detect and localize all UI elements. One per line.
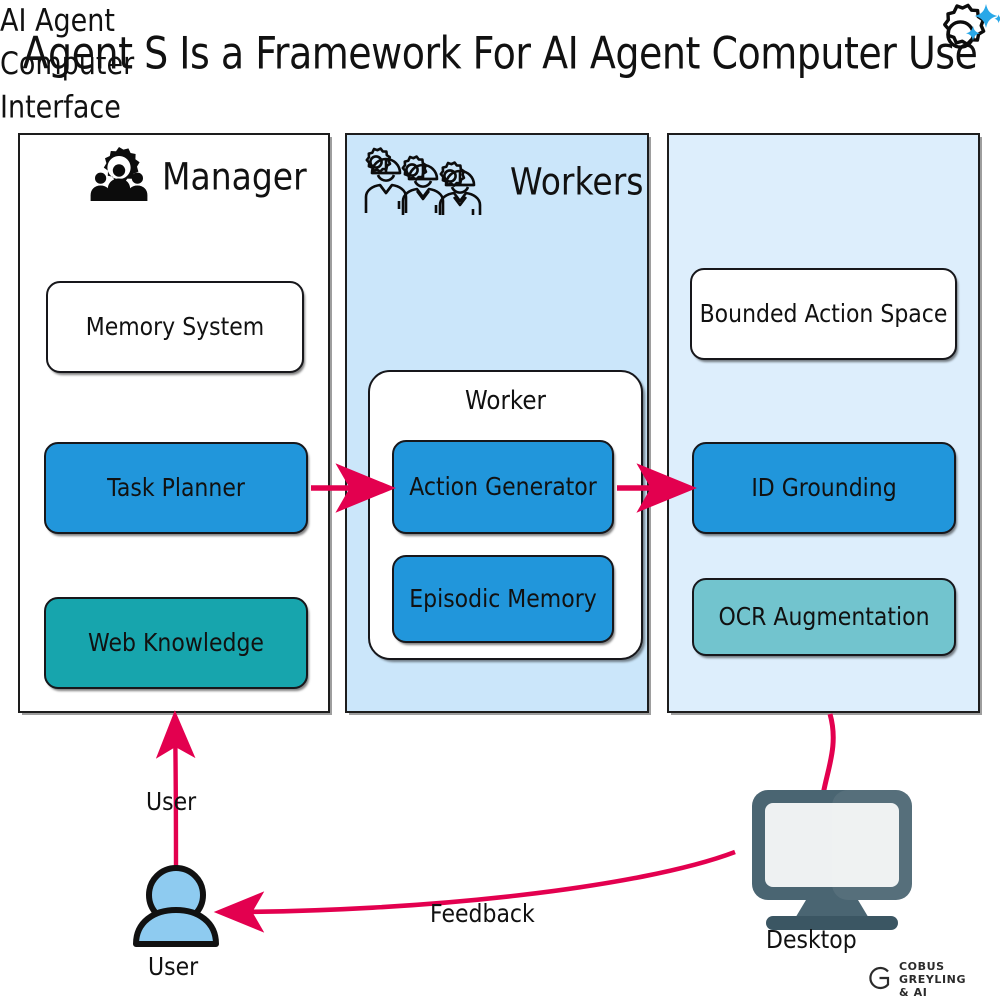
box-id-grounding-label: ID Grounding — [751, 474, 896, 502]
label-user-actor: User — [148, 953, 198, 981]
manager-title: Manager — [162, 154, 307, 198]
user-avatar-icon — [136, 868, 216, 944]
watermark: COBUS GREYLING& AI — [866, 960, 1000, 999]
box-bounded-action-space[interactable]: Bounded Action Space — [690, 268, 957, 360]
box-episodic-memory-label: Episodic Memory — [409, 585, 597, 613]
box-ocr-augmentation-label: OCR Augmentation — [718, 603, 929, 631]
watermark-line-2: & AI — [899, 986, 927, 999]
box-bounded-action-space-label: Bounded Action Space — [700, 300, 948, 328]
aci-title-line-2: Computer Interface — [0, 47, 134, 126]
worker-card-title: Worker — [370, 386, 641, 415]
aci-title: AI AgentComputer Interface — [0, 0, 215, 130]
box-action-generator[interactable]: Action Generator — [392, 440, 614, 534]
box-web-knowledge[interactable]: Web Knowledge — [44, 597, 308, 689]
watermark-line-1: COBUS GREYLING — [899, 960, 966, 986]
box-ocr-augmentation[interactable]: OCR Augmentation — [692, 578, 956, 656]
people-gear-icon — [88, 145, 150, 207]
g-monogram-icon — [866, 965, 892, 995]
arrow-aci-to-desktop — [821, 714, 834, 840]
box-id-grounding[interactable]: ID Grounding — [692, 442, 956, 534]
label-desktop: Desktop — [766, 926, 857, 954]
watermark-text: COBUS GREYLING& AI — [899, 960, 1000, 999]
aci-title-line-1: AI Agent — [0, 3, 115, 38]
workers-hardhat-gears-icon — [352, 143, 500, 219]
box-memory-system-label: Memory System — [86, 313, 265, 341]
manager-header: Manager — [88, 145, 307, 207]
box-memory-system[interactable]: Memory System — [46, 281, 304, 373]
label-feedback: Feedback — [430, 900, 535, 928]
workers-header: Workers — [352, 143, 643, 219]
box-action-generator-label: Action Generator — [409, 473, 597, 501]
box-episodic-memory[interactable]: Episodic Memory — [392, 555, 614, 643]
box-task-planner-label: Task Planner — [107, 474, 245, 502]
label-user-edge: User — [146, 788, 196, 816]
box-task-planner[interactable]: Task Planner — [44, 442, 308, 534]
desktop-monitor-icon — [752, 790, 912, 930]
box-web-knowledge-label: Web Knowledge — [88, 629, 264, 657]
gear-sparkle-icon — [924, 0, 1000, 78]
workers-title: Workers — [510, 159, 643, 203]
